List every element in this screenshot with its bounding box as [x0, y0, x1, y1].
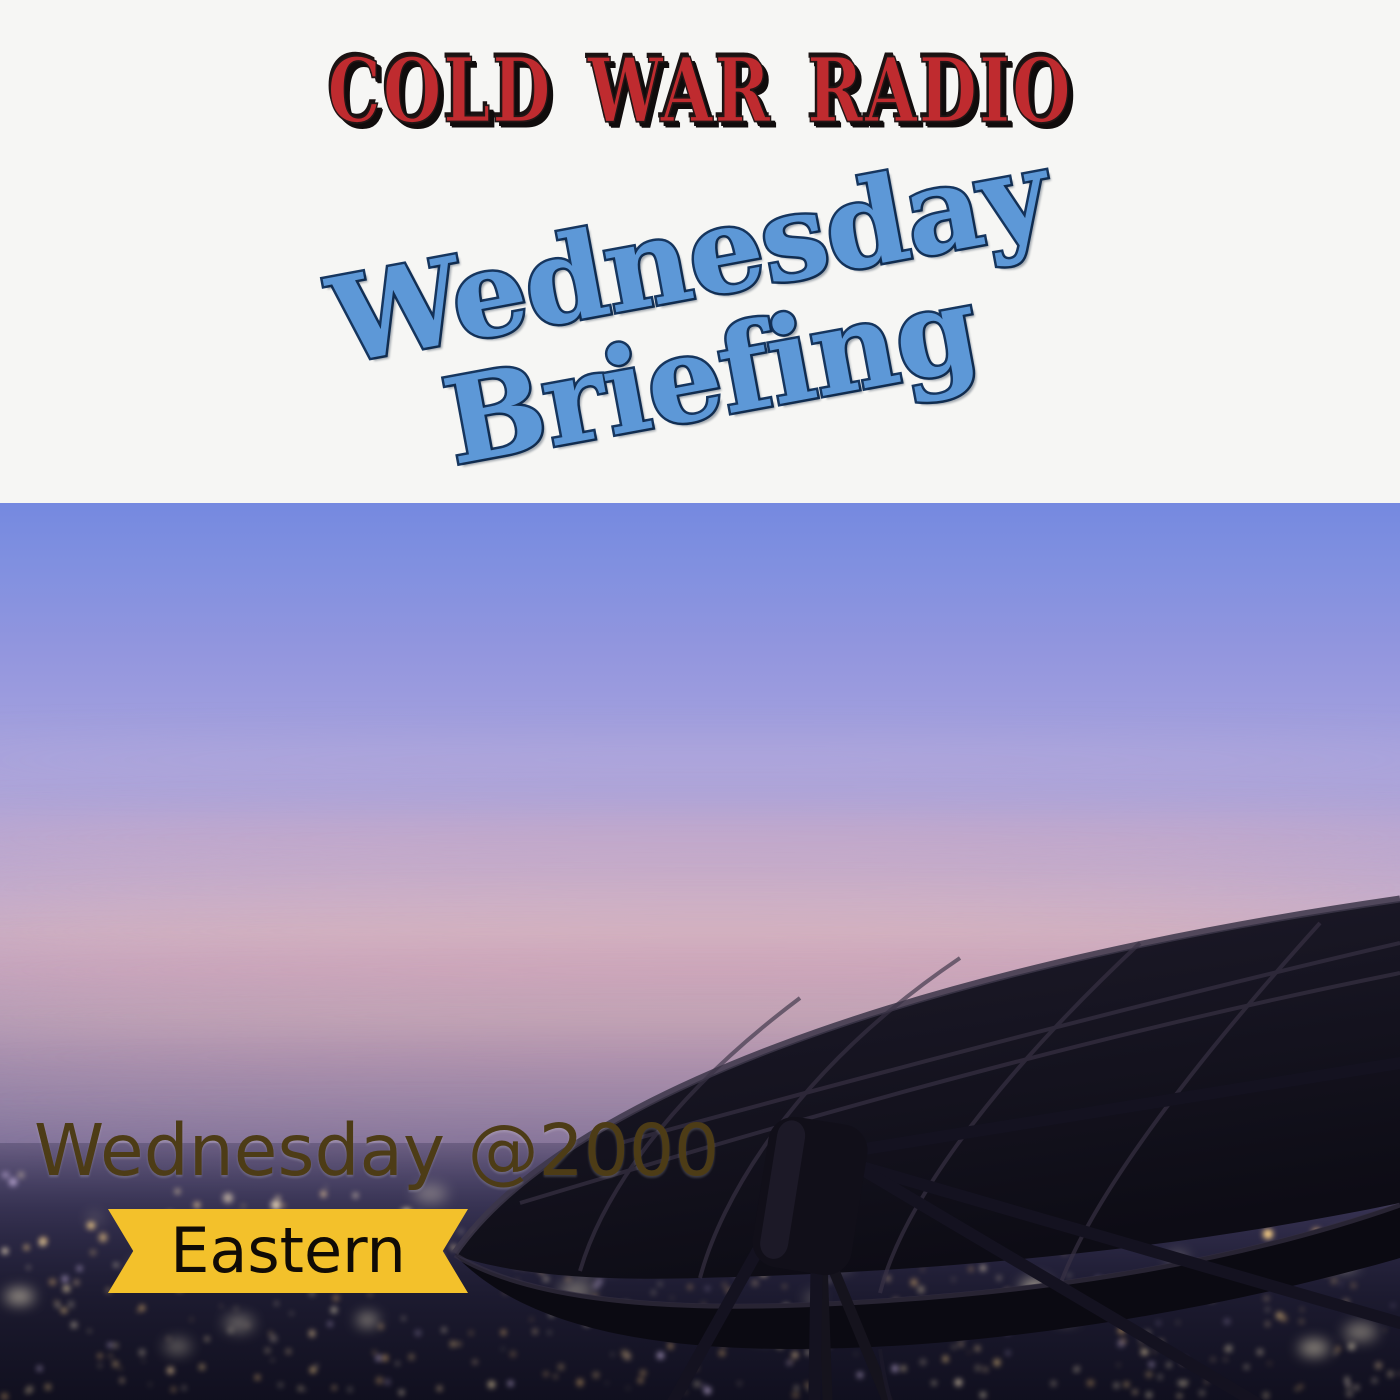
schedule-text: Wednesday @2000	[34, 1115, 719, 1186]
title-panel: Cold War Radio Wednesday Briefing	[0, 0, 1400, 503]
podcast-cover-art: Cold War Radio Wednesday Briefing	[0, 0, 1400, 1400]
timezone-ribbon-label: Eastern	[170, 1220, 406, 1282]
timezone-ribbon: Eastern	[108, 1209, 468, 1293]
satellite-dish-photo: Wednesday @2000 Eastern SCR W	[0, 503, 1400, 1400]
